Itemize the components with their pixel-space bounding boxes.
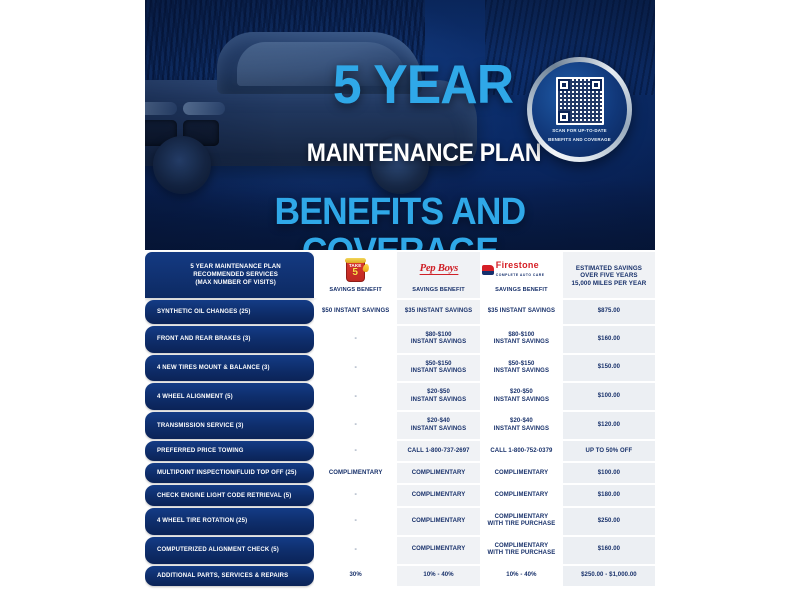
firestone-mark-icon: [482, 265, 494, 275]
table-row: MULTIPOINT INSPECTION/FLUID TOP OFF (25)…: [145, 463, 655, 483]
row-take5-value: -: [314, 326, 397, 353]
row-estimated-value: $875.00: [563, 300, 655, 323]
firestone-tagline: COMPLETE AUTO CARE: [496, 273, 545, 277]
qr-caption-line2: BENEFITS AND COVERAGE: [540, 137, 620, 143]
empty-dash: -: [354, 335, 356, 342]
firestone-logo-group: Firestone COMPLETE AUTO CARE: [482, 261, 561, 280]
row-pepboys-value: COMPLIMENTARY: [397, 485, 480, 505]
row-estimated-value: $100.00: [563, 463, 655, 483]
row-estimated-value: $250.00 - $1,000.00: [563, 566, 655, 586]
row-take5-value: -: [314, 412, 397, 439]
row-service-label: CHECK ENGINE LIGHT CODE RETRIEVAL (5): [145, 485, 314, 505]
row-take5-value: -: [314, 485, 397, 505]
row-firestone-value: COMPLIMENTARYWITH TIRE PURCHASE: [480, 508, 563, 535]
row-pepboys-value: $50-$150INSTANT SAVINGS: [397, 355, 480, 382]
table-row: 4 NEW TIRES MOUNT & BALANCE (3)-$50-$150…: [145, 355, 655, 382]
empty-dash: -: [354, 447, 356, 454]
qr-finder-bottom-left: [558, 111, 570, 123]
qr-badge-inner: SCAN FOR UP-TO-DATE BENEFITS AND COVERAG…: [532, 62, 627, 157]
firestone-logo: Firestone COMPLETE AUTO CARE: [482, 257, 561, 283]
row-service-label: PREFERRED PRICE TOWING: [145, 441, 314, 461]
empty-dash: -: [354, 421, 356, 428]
empty-dash: -: [354, 364, 356, 371]
maintenance-plan-panel: 5 YEAR MAINTENANCE PLAN BENEFITS AND COV…: [145, 0, 655, 600]
table-row: 4 WHEEL TIRE ROTATION (25)-COMPLIMENTARY…: [145, 508, 655, 535]
table-row: ADDITIONAL PARTS, SERVICES & REPAIRS30%1…: [145, 566, 655, 586]
row-pepboys-value: $20-$50INSTANT SAVINGS: [397, 383, 480, 410]
row-service-label: MULTIPOINT INSPECTION/FLUID TOP OFF (25): [145, 463, 314, 483]
row-take5-value: -: [314, 383, 397, 410]
row-estimated-value: $160.00: [563, 537, 655, 564]
pepboys-wordmark: Pep Boys: [419, 265, 457, 275]
estimated-line-2: OVER FIVE YEARS: [567, 272, 651, 280]
qr-code-icon: [556, 77, 604, 125]
table-row: PREFERRED PRICE TOWING-CALL 1-800-737-26…: [145, 441, 655, 461]
qr-code-badge[interactable]: SCAN FOR UP-TO-DATE BENEFITS AND COVERAG…: [527, 57, 632, 162]
take5-oil-can-icon: TAKE 5: [343, 258, 369, 283]
firestone-text-block: Firestone COMPLETE AUTO CARE: [496, 261, 561, 280]
header-brand-take5: TAKE 5 SAVINGS BENEFIT: [314, 252, 397, 298]
qr-caption-line1: SCAN FOR UP-TO-DATE: [540, 128, 620, 134]
table-row: SYNTHETIC OIL CHANGES (25)$50 INSTANT SA…: [145, 300, 655, 323]
hero-headline-maintenance-plan: MAINTENANCE PLAN: [296, 140, 552, 166]
row-firestone-value: $50-$150INSTANT SAVINGS: [480, 355, 563, 382]
table-row: TRANSMISSION SERVICE (3)-$20-$40INSTANT …: [145, 412, 655, 439]
row-estimated-value: $120.00: [563, 412, 655, 439]
infographic-canvas: 5 YEAR MAINTENANCE PLAN BENEFITS AND COV…: [0, 0, 800, 600]
qr-finder-top-right: [590, 79, 602, 91]
header-brand-firestone: Firestone COMPLETE AUTO CARE SAVINGS BEN…: [480, 252, 563, 298]
take5-logo: TAKE 5: [316, 257, 395, 283]
table-header-row: 5 YEAR MAINTENANCE PLAN RECOMMENDED SERV…: [145, 252, 655, 298]
row-estimated-value: UP TO 50% OFF: [563, 441, 655, 461]
table-head: 5 YEAR MAINTENANCE PLAN RECOMMENDED SERV…: [145, 252, 655, 298]
benefits-table-section: 5 YEAR MAINTENANCE PLAN RECOMMENDED SERV…: [145, 250, 655, 600]
row-pepboys-value: $20-$40INSTANT SAVINGS: [397, 412, 480, 439]
row-take5-value: -: [314, 508, 397, 535]
row-take5-value: $50 INSTANT SAVINGS: [314, 300, 397, 323]
row-take5-value: -: [314, 441, 397, 461]
row-take5-value: COMPLIMENTARY: [314, 463, 397, 483]
row-take5-value: 30%: [314, 566, 397, 586]
row-service-label: ADDITIONAL PARTS, SERVICES & REPAIRS: [145, 566, 314, 586]
hero-banner: 5 YEAR MAINTENANCE PLAN BENEFITS AND COV…: [145, 0, 655, 250]
row-firestone-value: COMPLIMENTARY: [480, 463, 563, 483]
header-brand-pepboys: Pep Boys SAVINGS BENEFIT: [397, 252, 480, 298]
firestone-savings-benefit-label: SAVINGS BENEFIT: [482, 286, 561, 294]
row-service-label: 4 NEW TIRES MOUNT & BALANCE (3): [145, 355, 314, 382]
row-estimated-value: $150.00: [563, 355, 655, 382]
table-row: COMPUTERIZED ALIGNMENT CHECK (5)-COMPLIM…: [145, 537, 655, 564]
row-take5-value: -: [314, 355, 397, 382]
take5-savings-benefit-label: SAVINGS BENEFIT: [316, 286, 395, 294]
pepboys-logo: Pep Boys: [399, 257, 478, 283]
table-row: FRONT AND REAR BRAKES (3)-$80-$100INSTAN…: [145, 326, 655, 353]
row-service-label: 4 WHEEL TIRE ROTATION (25): [145, 508, 314, 535]
row-pepboys-value: COMPLIMENTARY: [397, 508, 480, 535]
row-service-label: SYNTHETIC OIL CHANGES (25): [145, 300, 314, 323]
header-estimated-savings: ESTIMATED SAVINGS OVER FIVE YEARS 15,000…: [563, 252, 655, 298]
empty-dash: -: [354, 491, 356, 498]
header-services-column: 5 YEAR MAINTENANCE PLAN RECOMMENDED SERV…: [145, 252, 314, 298]
row-firestone-value: $20-$40INSTANT SAVINGS: [480, 412, 563, 439]
row-pepboys-value: COMPLIMENTARY: [397, 537, 480, 564]
benefits-table: 5 YEAR MAINTENANCE PLAN RECOMMENDED SERV…: [145, 250, 655, 588]
header-line-2: RECOMMENDED SERVICES: [157, 271, 314, 279]
row-estimated-value: $100.00: [563, 383, 655, 410]
row-firestone-value: 10% - 40%: [480, 566, 563, 586]
empty-dash: -: [354, 546, 356, 553]
row-take5-value: -: [314, 537, 397, 564]
empty-dash: -: [354, 517, 356, 524]
row-pepboys-value: $35 INSTANT SAVINGS: [397, 300, 480, 323]
estimated-line-3: 15,000 MILES PER YEAR: [567, 280, 651, 288]
hero-headline-5year: 5 YEAR: [310, 58, 536, 110]
row-pepboys-value: CALL 1-800-737-2697: [397, 441, 480, 461]
row-pepboys-value: 10% - 40%: [397, 566, 480, 586]
row-pepboys-value: $80-$100INSTANT SAVINGS: [397, 326, 480, 353]
row-service-label: FRONT AND REAR BRAKES (3): [145, 326, 314, 353]
table-body: SYNTHETIC OIL CHANGES (25)$50 INSTANT SA…: [145, 300, 655, 585]
table-row: 4 WHEEL ALIGNMENT (5)-$20-$50INSTANT SAV…: [145, 383, 655, 410]
header-line-3: (MAX NUMBER OF VISITS): [157, 279, 314, 287]
qr-finder-top-left: [558, 79, 570, 91]
row-firestone-value: COMPLIMENTARY: [480, 485, 563, 505]
estimated-line-1: ESTIMATED SAVINGS: [567, 265, 651, 273]
row-estimated-value: $180.00: [563, 485, 655, 505]
row-firestone-value: $80-$100INSTANT SAVINGS: [480, 326, 563, 353]
row-service-label: 4 WHEEL ALIGNMENT (5): [145, 383, 314, 410]
row-estimated-value: $250.00: [563, 508, 655, 535]
hero-headline-benefits-coverage: BENEFITS AND COVERAGE: [181, 192, 618, 250]
row-firestone-value: $20-$50INSTANT SAVINGS: [480, 383, 563, 410]
row-service-label: TRANSMISSION SERVICE (3): [145, 412, 314, 439]
firestone-wordmark: Firestone: [496, 260, 539, 270]
row-estimated-value: $160.00: [563, 326, 655, 353]
row-service-label: COMPUTERIZED ALIGNMENT CHECK (5): [145, 537, 314, 564]
row-firestone-value: CALL 1-800-752-0379: [480, 441, 563, 461]
pepboys-savings-benefit-label: SAVINGS BENEFIT: [399, 286, 478, 294]
row-pepboys-value: COMPLIMENTARY: [397, 463, 480, 483]
empty-dash: -: [354, 393, 356, 400]
table-row: CHECK ENGINE LIGHT CODE RETRIEVAL (5)-CO…: [145, 485, 655, 505]
row-firestone-value: $35 INSTANT SAVINGS: [480, 300, 563, 323]
row-firestone-value: COMPLIMENTARYWITH TIRE PURCHASE: [480, 537, 563, 564]
header-line-1: 5 YEAR MAINTENANCE PLAN: [157, 263, 314, 271]
